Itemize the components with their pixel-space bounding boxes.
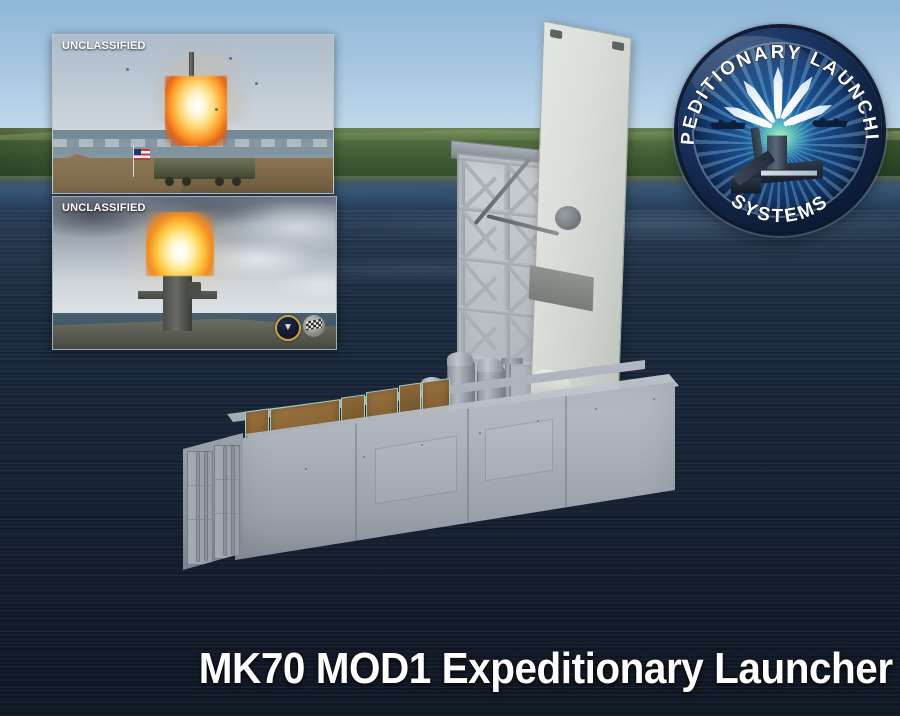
inset2-deck-housing — [187, 282, 201, 298]
fastener — [595, 408, 597, 410]
composite-image: UNCLASSIFIED ▼ UNCLASSIFIED — [0, 0, 900, 716]
fastener — [305, 468, 307, 470]
door-locking-bar[interactable] — [205, 452, 207, 560]
inset1-launch-trailer — [154, 158, 255, 179]
inset2-launch-flame — [146, 212, 214, 276]
fastener — [653, 398, 655, 400]
panel-seam — [565, 392, 567, 512]
door-rib — [187, 519, 211, 520]
mk70-mod1-launcher — [175, 330, 695, 650]
inset-land-launch-clip: UNCLASSIFIED — [52, 34, 334, 194]
fastener — [537, 420, 539, 422]
door-locking-bar[interactable] — [197, 453, 199, 561]
door-locking-bar[interactable] — [224, 447, 226, 555]
hinged-blast-door — [531, 21, 632, 410]
expeditionary-launching-systems-seal: EXPEDITIONARY LAUNCHING SYSTEMS — [678, 28, 882, 232]
inset1-debris-speck — [126, 68, 129, 71]
gas-management-tank-cap — [477, 358, 503, 372]
container-end-wall — [183, 433, 243, 570]
gas-management-tank-cap — [447, 352, 473, 366]
inset1-exhaust-plume — [165, 76, 227, 146]
container-door-right[interactable] — [214, 445, 240, 559]
door-locking-bar[interactable] — [232, 446, 234, 554]
blast-door-hinge — [550, 29, 562, 39]
seal-outer-ring: EXPEDITIONARY LAUNCHING SYSTEMS — [678, 28, 882, 232]
exhaust-pipe — [501, 358, 523, 364]
fastener — [363, 456, 365, 458]
fastener — [479, 432, 481, 434]
door-rib — [214, 479, 238, 480]
blast-door-panel — [529, 265, 594, 311]
blast-door-pivot — [555, 206, 581, 230]
inset2-classification-label: UNCLASSIFIED — [62, 202, 146, 214]
access-panel — [375, 436, 457, 505]
page-title: MK70 MOD1 Expeditionary Launcher — [72, 644, 900, 694]
fastener — [421, 444, 423, 446]
seal-lettering: EXPEDITIONARY LAUNCHING SYSTEMS — [678, 28, 882, 232]
blast-door-hinge — [612, 41, 624, 51]
panel-seam — [355, 414, 357, 544]
panel-seam — [467, 402, 469, 530]
inset-ship-launch-clip: ▼ UNCLASSIFIED — [52, 196, 337, 350]
seal-arc-top-text: EXPEDITIONARY LAUNCHING — [678, 28, 882, 146]
inset1-classification-label: UNCLASSIFIED — [62, 40, 146, 52]
seal-arc-bottom-text: SYSTEMS — [727, 190, 833, 227]
inset1-trailer-wheel — [182, 177, 191, 186]
access-panel — [485, 419, 553, 482]
door-rib — [187, 485, 211, 486]
container-door-left[interactable] — [187, 451, 213, 565]
inset1-us-flag — [134, 149, 150, 160]
door-rib — [214, 513, 238, 514]
